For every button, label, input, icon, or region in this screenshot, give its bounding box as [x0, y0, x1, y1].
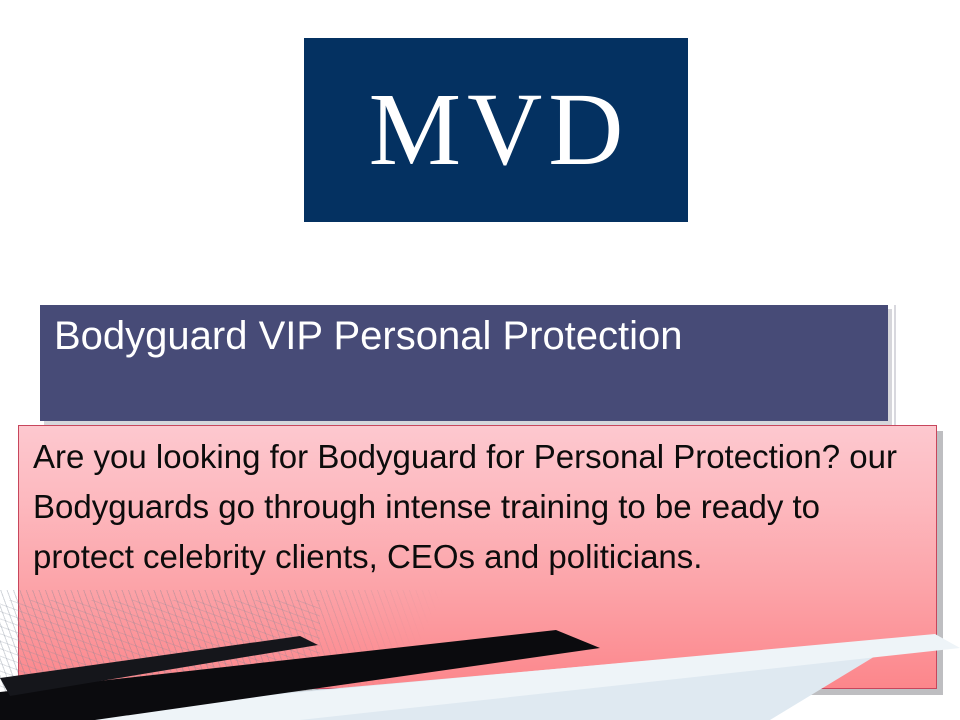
page-title: Bodyguard VIP Personal Protection [54, 311, 874, 361]
title-right-divider [894, 305, 896, 425]
footer-decoration [0, 590, 960, 720]
title-box: Bodyguard VIP Personal Protection [40, 305, 888, 421]
mvd-logo-block: MVD [304, 38, 688, 222]
body-paragraph: Are you looking for Bodyguard for Person… [33, 432, 920, 582]
mvd-logo-text: MVD [363, 78, 630, 182]
slide-canvas: MVD Bodyguard VIP Personal Protection Ar… [0, 0, 960, 720]
